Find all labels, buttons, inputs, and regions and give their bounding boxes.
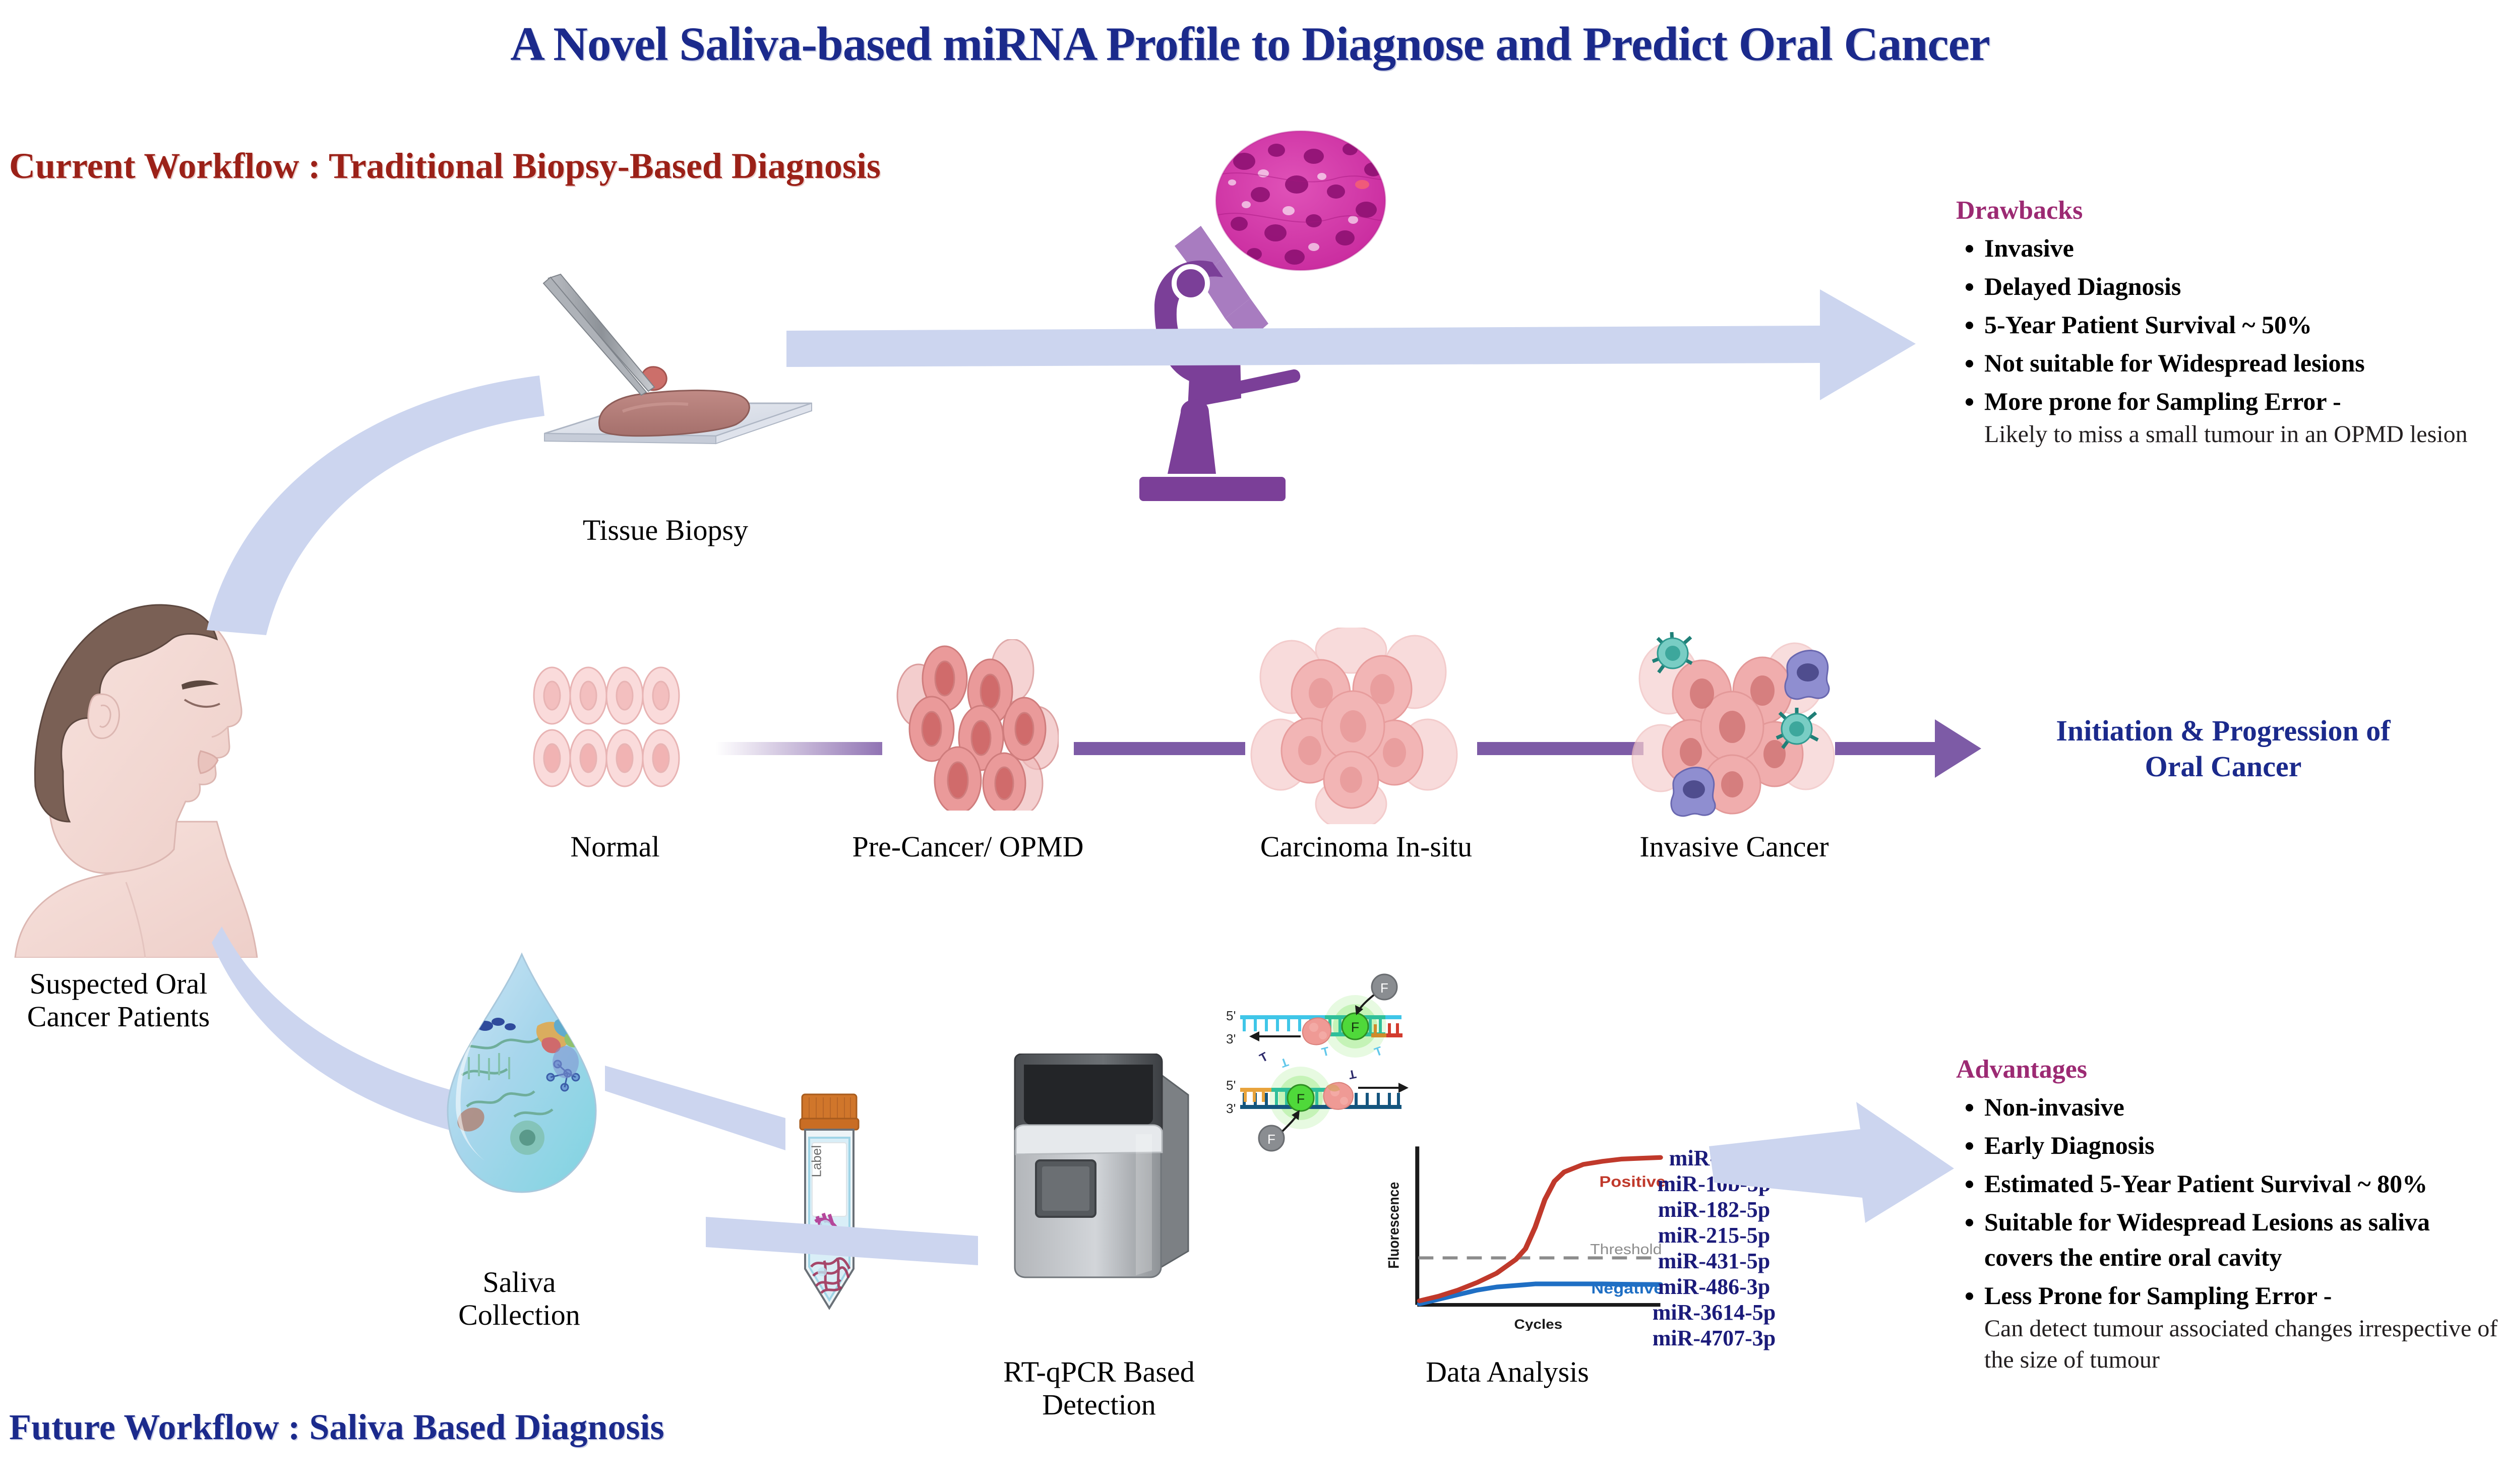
advantages-item: Less Prone for Sampling Error - Can dete… <box>1984 1278 2500 1376</box>
three-prime-label-top: 3' <box>1226 1031 1236 1046</box>
three-prime-label-bottom: 3' <box>1226 1101 1236 1116</box>
drawbacks-item-text: 5-Year Patient Survival ~ 50% <box>1984 311 2312 339</box>
patient-label-line1: Suspected Oral <box>0 968 237 1001</box>
svg-text:T: T <box>1347 1067 1357 1082</box>
advantages-item-text: Non-invasive <box>1984 1093 2124 1121</box>
arrow-analysis-to-advantages <box>1709 1099 1971 1260</box>
progression-arrow-3 <box>1477 742 1643 755</box>
invasive-cancer-illustration <box>1628 630 1840 827</box>
advantages-item: Non-invasive <box>1984 1089 2500 1125</box>
carcinoma-insitu-illustration <box>1250 628 1462 824</box>
advantages-item-text: Early Diagnosis <box>1984 1131 2155 1159</box>
advantages-item: Suitable for Widespread Lesions as saliv… <box>1984 1204 2500 1275</box>
drawbacks-heading: Drawbacks <box>1956 196 2500 225</box>
advantages-item-text: Suitable for Widespread Lesions as saliv… <box>1984 1208 2430 1271</box>
progression-outcome-line2: Oral Cancer <box>1986 749 2460 785</box>
drawbacks-item-text: Delayed Diagnosis <box>1984 272 2181 300</box>
saliva-collection-label: Saliva Collection <box>418 1266 620 1332</box>
polymerase-bottom <box>1323 1083 1353 1109</box>
drawbacks-item: Not suitable for Widespread lesions <box>1984 345 2500 381</box>
drawbacks-item-sub: Likely to miss a small tumour in an OPMD… <box>1984 419 2500 450</box>
saliva-droplet-illustration <box>439 950 605 1202</box>
future-workflow-heading: Future Workflow : Saliva Based Diagnosis <box>9 1406 664 1448</box>
fluorophore-attached-top-label: F <box>1351 1020 1360 1035</box>
rtqpcr-label: RT-qPCR Based Detection <box>943 1356 1255 1421</box>
histology-slide-image <box>1215 130 1386 271</box>
svg-text:T: T <box>1257 1049 1270 1065</box>
tissue-biopsy-label: Tissue Biopsy <box>489 514 842 547</box>
progression-arrow-4 <box>1835 742 1936 755</box>
precancer-cells-illustration <box>877 639 1059 811</box>
stage-label-carcinoma: Carcinoma In-situ <box>1200 831 1533 863</box>
advantages-item-text: Less Prone for Sampling Error - <box>1984 1281 2332 1310</box>
stage-label-precancer: Pre-Cancer/ OPMD <box>791 831 1144 863</box>
drawbacks-item: Invasive <box>1984 230 2500 266</box>
patient-label: Suspected Oral Cancer Patients <box>0 968 237 1033</box>
forceps <box>548 274 654 391</box>
drawbacks-item: 5-Year Patient Survival ~ 50% <box>1984 307 2500 342</box>
stage-label-normal: Normal <box>504 831 726 863</box>
patient-label-line2: Cancer Patients <box>0 1001 237 1033</box>
svg-text:T: T <box>1373 1044 1384 1060</box>
drawbacks-list: Invasive Delayed Diagnosis 5-Year Patien… <box>1956 230 2500 450</box>
advantages-list: Non-invasive Early Diagnosis Estimated 5… <box>1956 1089 2500 1376</box>
rtqpcr-machine-illustration <box>1001 1054 1197 1285</box>
advantages-item: Estimated 5-Year Patient Survival ~ 80% <box>1984 1166 2500 1201</box>
rtqpcr-label-line2: Detection <box>943 1389 1255 1421</box>
fluorophore-free-bottom-label: F <box>1267 1132 1275 1147</box>
five-prime-label-top: 5' <box>1226 1008 1236 1023</box>
immune-cell-purple <box>1785 650 1829 699</box>
arrow-microscope-to-drawbacks <box>786 282 1936 413</box>
normal-cells-illustration <box>532 664 698 795</box>
progression-outcome: Initiation & Progression of Oral Cancer <box>1986 713 2460 785</box>
drawbacks-item: Delayed Diagnosis <box>1984 269 2500 304</box>
drawbacks-panel: Drawbacks Invasive Delayed Diagnosis 5-Y… <box>1956 196 2500 453</box>
five-prime-label-bottom: 5' <box>1226 1078 1236 1093</box>
svg-text:T: T <box>1278 1055 1290 1070</box>
mirna-item: miR-486-3p <box>1633 1274 1795 1300</box>
fluorophore-attached-bottom-label: F <box>1297 1091 1305 1106</box>
progression-arrow-2 <box>1074 742 1245 755</box>
polymerase-top <box>1303 1018 1331 1044</box>
saliva-label-line1: Saliva <box>418 1266 620 1299</box>
advantages-item-text: Estimated 5-Year Patient Survival ~ 80% <box>1984 1169 2427 1198</box>
progression-arrowhead <box>1935 719 1981 778</box>
current-workflow-heading: Current Workflow : Traditional Biopsy-Ba… <box>9 145 881 187</box>
advantages-item-sub: Can detect tumour associated changes irr… <box>1984 1313 2500 1376</box>
progression-outcome-line1: Initiation & Progression of <box>1986 713 2460 749</box>
svg-text:T: T <box>1320 1044 1331 1060</box>
data-analysis-label: Data Analysis <box>1381 1356 1633 1389</box>
stage-label-invasive: Invasive Cancer <box>1578 831 1891 863</box>
qpcr-amplification-chart: Fluorescence Cycles Positive Threshold N… <box>1384 1139 1631 1326</box>
drawbacks-item-text: Invasive <box>1984 234 2074 262</box>
tissue-biopsy-illustration <box>514 267 817 484</box>
advantages-panel: Advantages Non-invasive Early Diagnosis … <box>1956 1055 2500 1379</box>
taqman-probe-diagram: 5' 3' <box>1210 958 1452 1159</box>
drawbacks-item: More prone for Sampling Error - Likely t… <box>1984 384 2500 450</box>
rtqpcr-label-line1: RT-qPCR Based <box>943 1356 1255 1389</box>
collection-tube-illustration <box>794 1091 865 1318</box>
drawbacks-item-text: Not suitable for Widespread lesions <box>1984 349 2365 377</box>
y-axis-label: Fluorescence <box>1385 1182 1402 1269</box>
tube-label-text: Label <box>809 1147 825 1178</box>
fluorophore-free-top-label: F <box>1380 980 1388 996</box>
immune-cell-purple-2 <box>1671 767 1715 816</box>
x-axis-label: Cycles <box>1514 1316 1562 1331</box>
advantages-heading: Advantages <box>1956 1055 2500 1084</box>
progression-arrow-1 <box>716 742 882 755</box>
arrow-tube-to-pcr <box>706 1210 988 1270</box>
saliva-label-line2: Collection <box>418 1299 620 1332</box>
drawbacks-item-text: More prone for Sampling Error - <box>1984 387 2341 415</box>
microscope-base <box>1139 477 1286 501</box>
advantages-item: Early Diagnosis <box>1984 1128 2500 1163</box>
mirna-item: miR-4707-3p <box>1633 1325 1795 1351</box>
page-title: A Novel Saliva-based miRNA Profile to Di… <box>0 16 2500 72</box>
arrow-droplet-to-tube <box>605 1059 797 1159</box>
mirna-item: miR-3614-5p <box>1633 1300 1795 1325</box>
